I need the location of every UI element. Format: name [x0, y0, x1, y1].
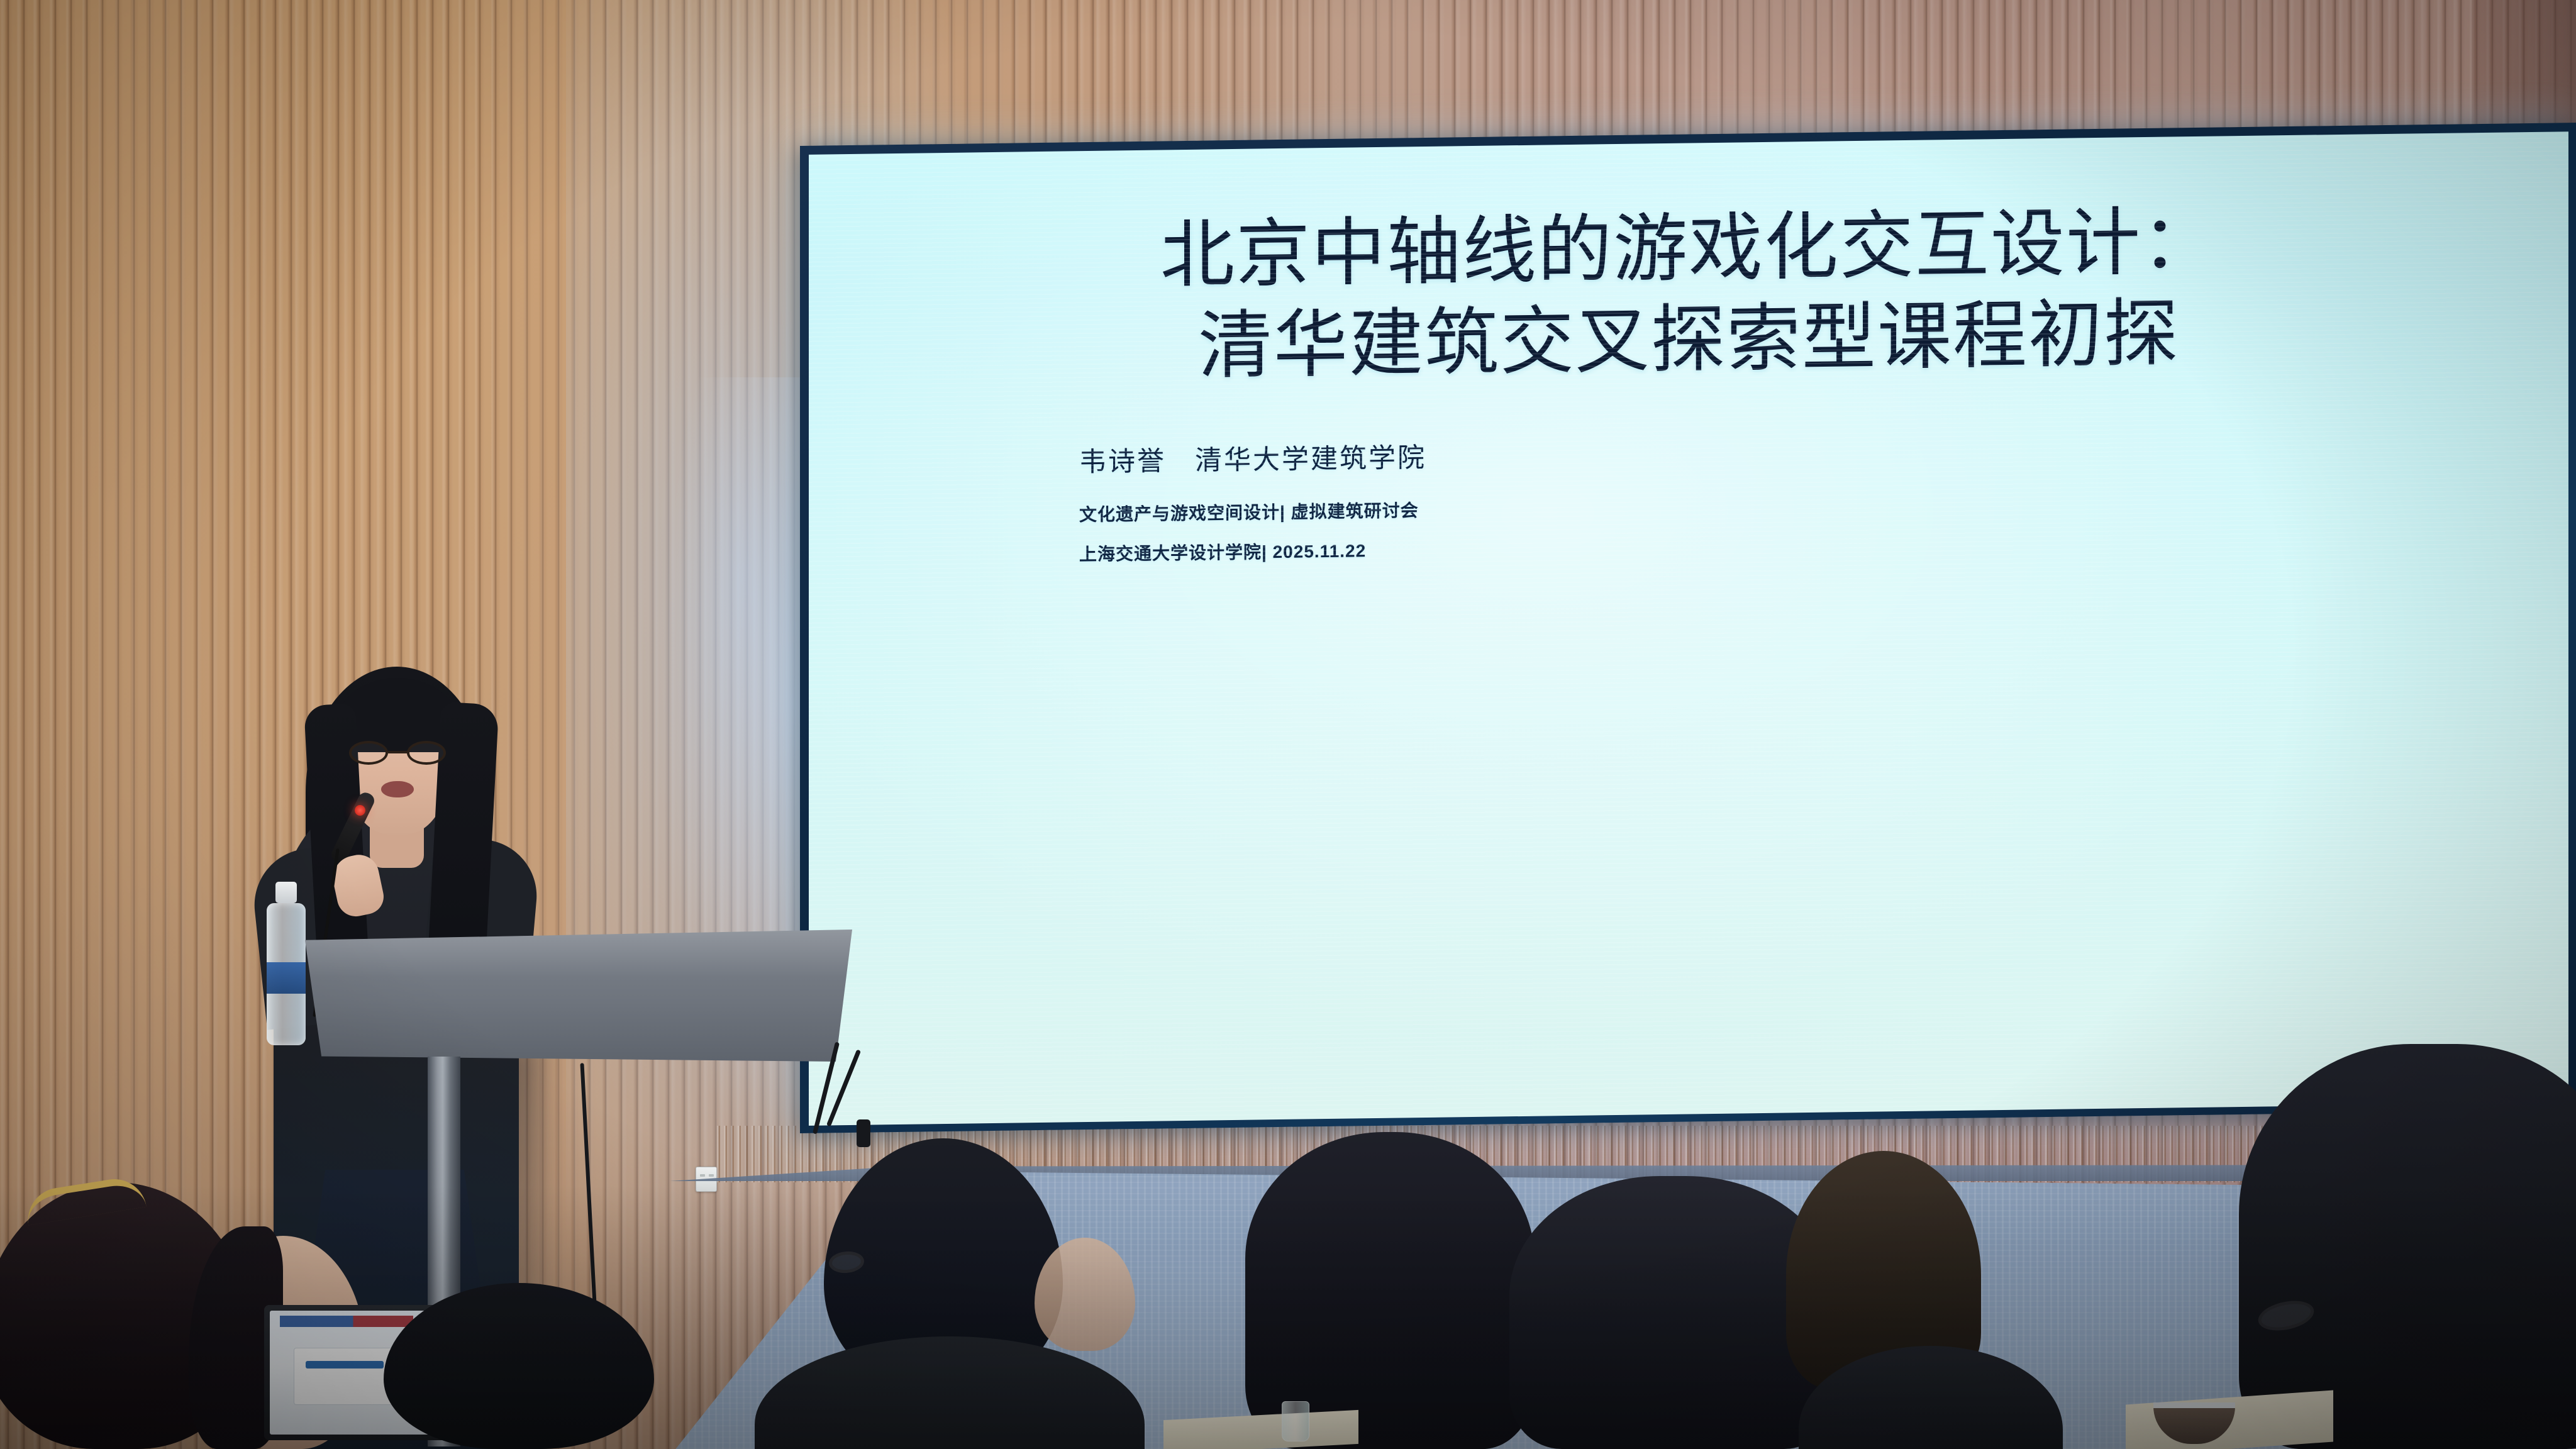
display-screen-bezel: 北京中轴线的游戏化交互设计： 清华建筑交叉探索型课程初探 韦诗誉 清华大学建筑学…	[800, 123, 2576, 1133]
glasses-lens-right	[407, 741, 446, 765]
lectern-top	[305, 930, 852, 1062]
glasses-lens-left	[349, 741, 388, 765]
bottle-label	[267, 962, 306, 994]
water-bottle[interactable]	[267, 882, 306, 1045]
audience-head-9	[2239, 1044, 2576, 1449]
presenter-mouth	[381, 781, 414, 797]
lectern-cable-connector	[857, 1119, 870, 1147]
presentation-photo: 北京中轴线的游戏化交互设计： 清华建筑交叉探索型课程初探 韦诗誉 清华大学建筑学…	[0, 0, 2576, 1449]
presenter-glasses	[349, 741, 447, 765]
screen-scanlines	[809, 131, 2568, 1126]
water-glass[interactable]	[1282, 1401, 1309, 1441]
laptop-window-titlebar	[280, 1316, 413, 1327]
presentation-display: 北京中轴线的游戏化交互设计： 清华建筑交叉探索型课程初探 韦诗誉 清华大学建筑学…	[809, 131, 2568, 1126]
microphone-led-icon	[355, 805, 365, 816]
bottle-cap	[275, 882, 297, 903]
laptop-window-button	[306, 1361, 384, 1368]
glasses-bridge	[388, 751, 408, 753]
